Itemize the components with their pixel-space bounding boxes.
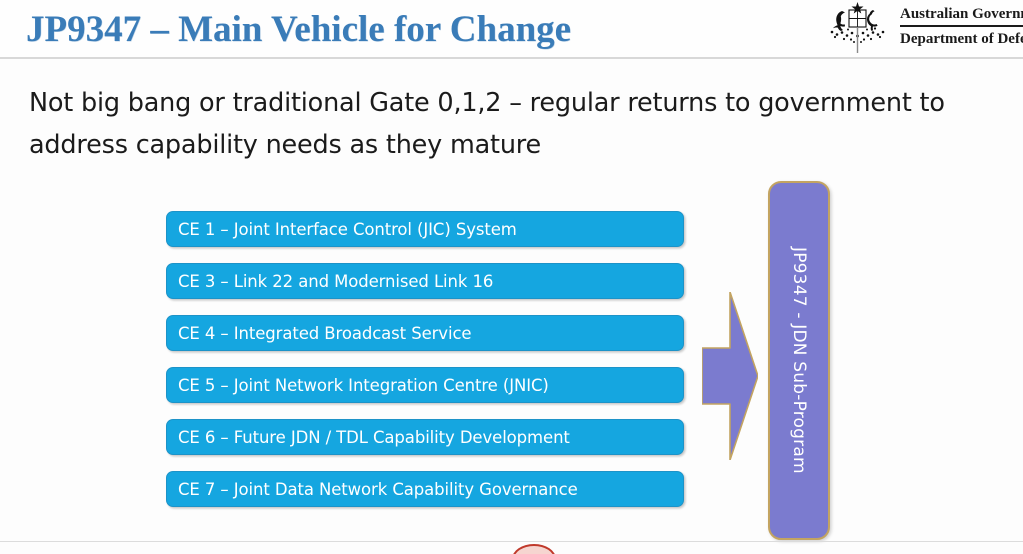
crest-line-australian-government: Australian Governm [900,4,1023,24]
crest-divider [900,25,1023,27]
bottom-divider [0,541,1023,542]
crest-wordmark: Australian Governm Department of Defenc [900,4,1023,49]
crest-line-department-of-defence: Department of Defenc [900,29,1023,49]
body-paragraph: Not big bang or traditional Gate 0,1,2 –… [29,82,994,166]
capability-element-list: CE 1 – Joint Interface Control (JIC) Sys… [166,211,684,523]
list-item[interactable]: CE 3 – Link 22 and Modernised Link 16 [166,263,684,299]
ce-bar-label: CE 5 – Joint Network Integration Centre … [178,376,549,395]
header-divider [0,57,1023,59]
list-item[interactable]: CE 7 – Joint Data Network Capability Gov… [166,471,684,507]
right-arrow-icon [702,292,758,460]
list-item[interactable]: CE 4 – Integrated Broadcast Service [166,315,684,351]
jp9347-subprogram-box[interactable]: JP9347 - JDN Sub-Program [768,181,830,540]
list-item[interactable]: CE 1 – Joint Interface Control (JIC) Sys… [166,211,684,247]
ce-bar-label: CE 3 – Link 22 and Modernised Link 16 [178,272,493,291]
list-item[interactable]: CE 5 – Joint Network Integration Centre … [166,367,684,403]
slide-header: JP9347 – Main Vehicle for Change [0,0,1023,58]
partial-oval-shape [512,544,556,554]
ce-bar-label: CE 4 – Integrated Broadcast Service [178,324,471,343]
page-title: JP9347 – Main Vehicle for Change [26,8,571,51]
ce-bar-label: CE 7 – Joint Data Network Capability Gov… [178,480,578,499]
australian-government-crest: Australian Governm Department of Defenc [818,1,1023,53]
australian-coat-of-arms-icon [818,1,896,53]
ce-bar-label: CE 6 – Future JDN / TDL Capability Devel… [178,428,570,447]
subprogram-label: JP9347 - JDN Sub-Program [789,247,809,474]
list-item[interactable]: CE 6 – Future JDN / TDL Capability Devel… [166,419,684,455]
ce-bar-label: CE 1 – Joint Interface Control (JIC) Sys… [178,220,517,239]
slide: JP9347 – Main Vehicle for Change [0,0,1023,554]
